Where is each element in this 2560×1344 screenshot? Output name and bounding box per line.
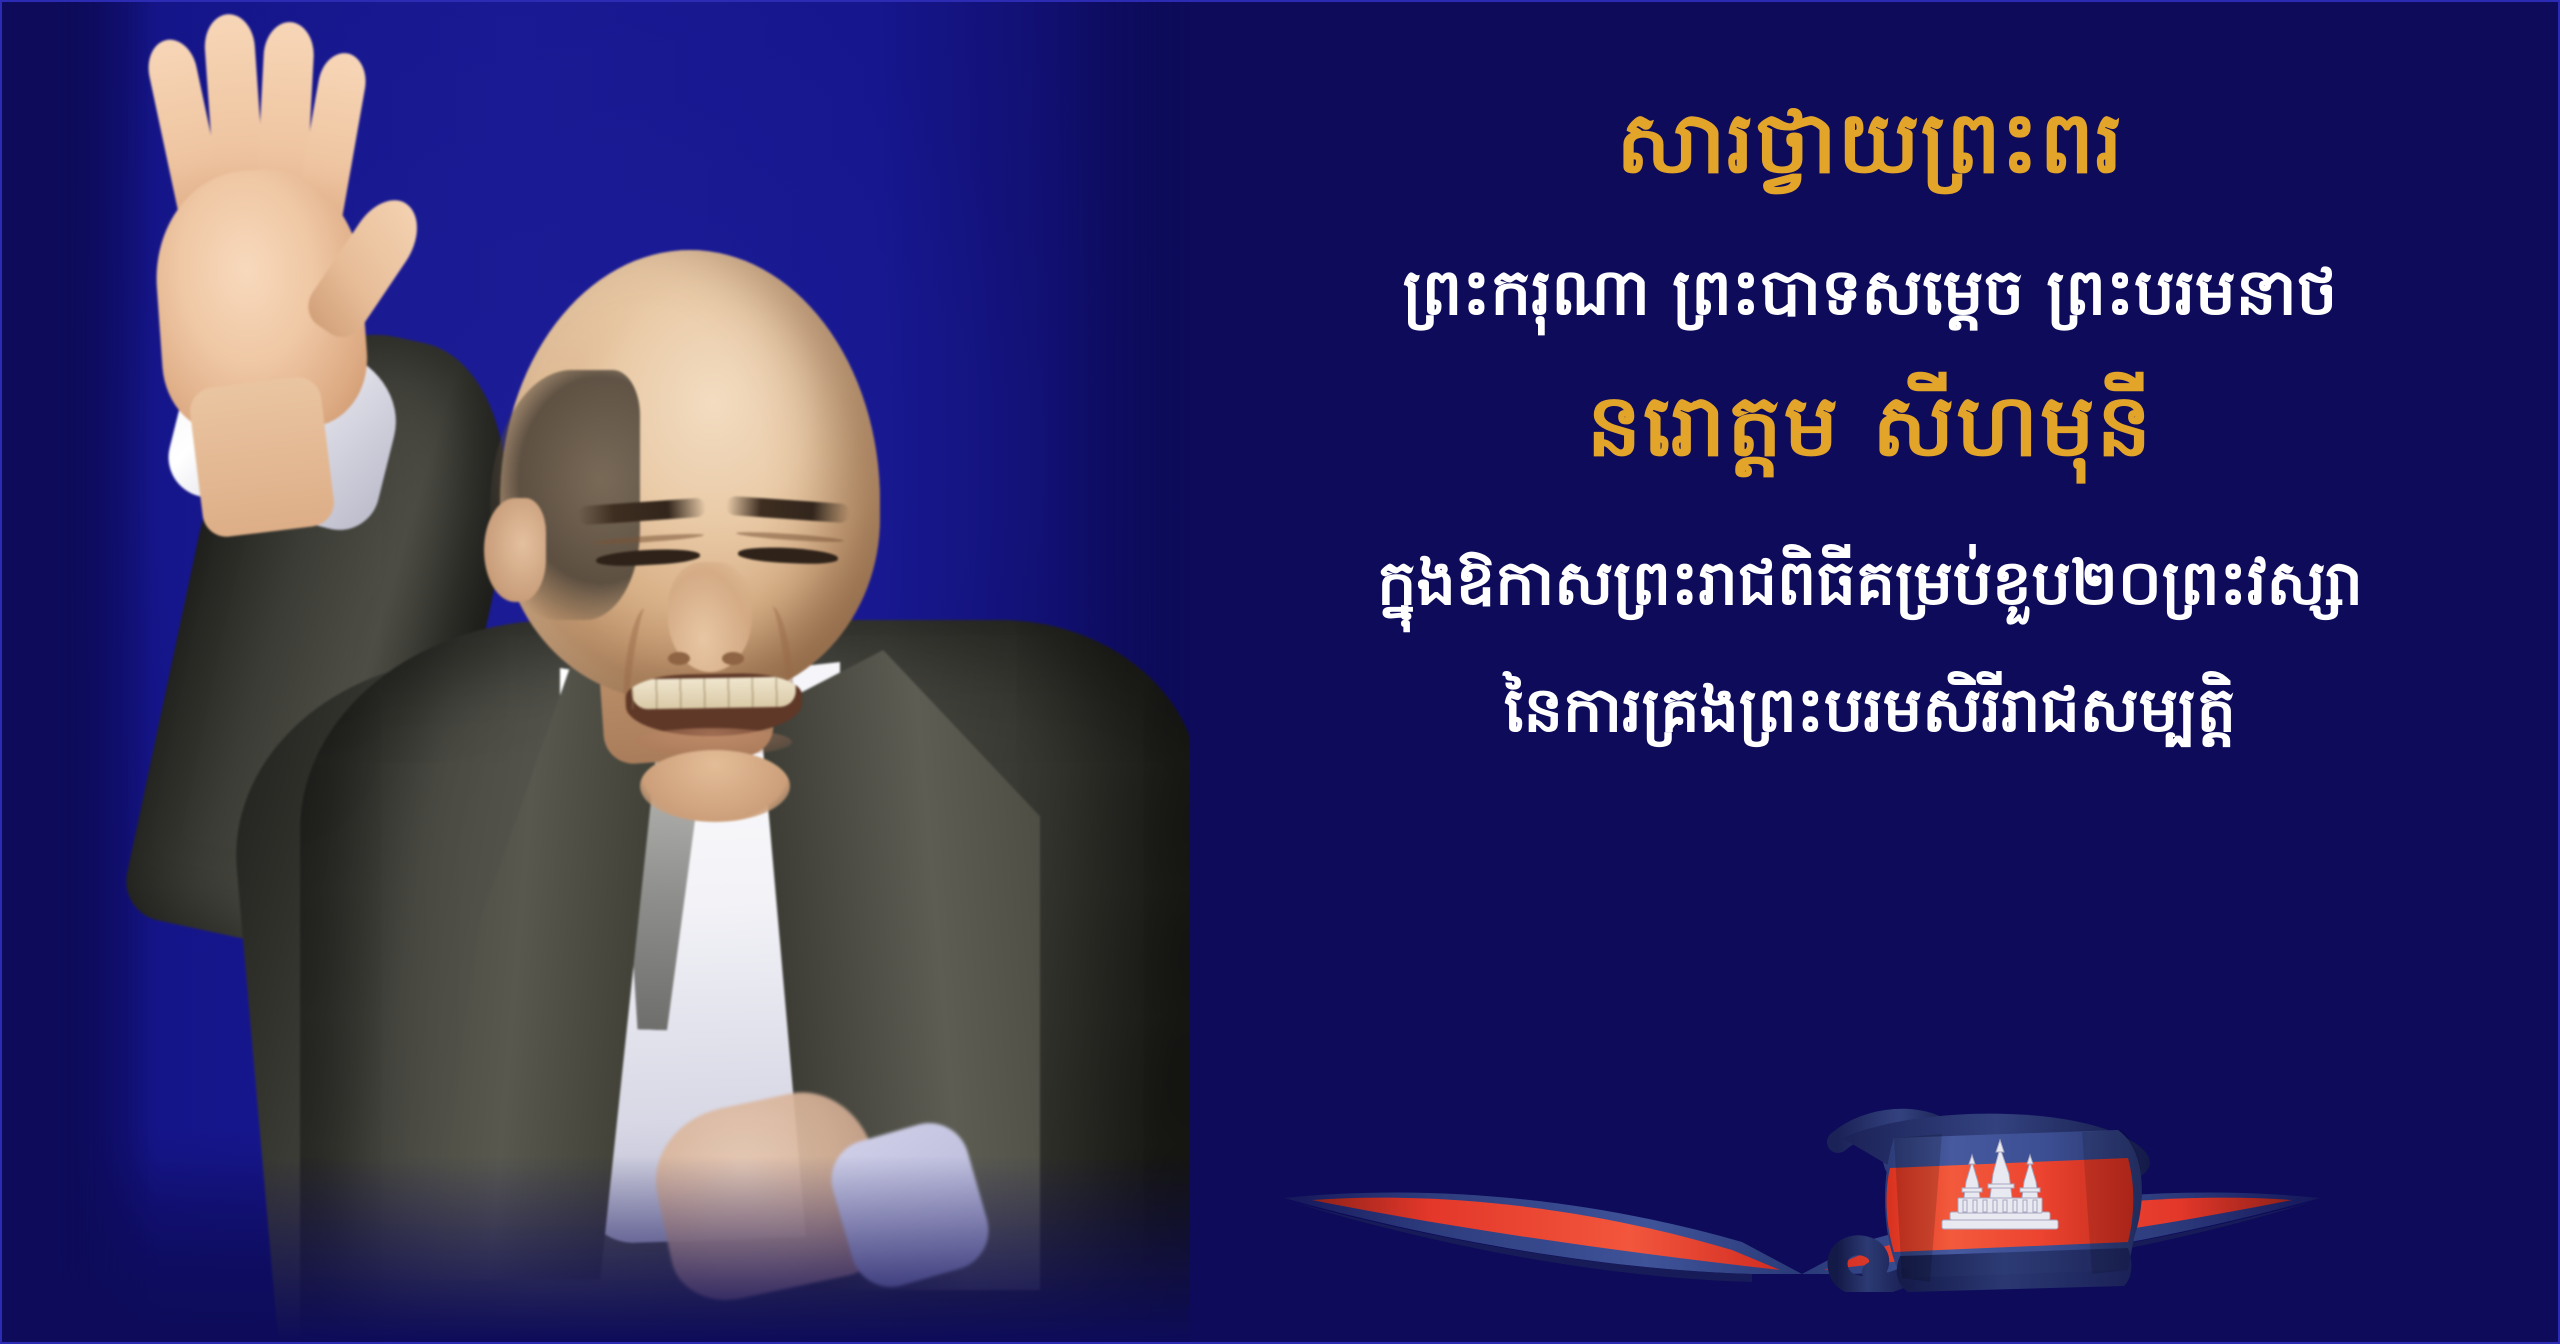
cambodia-flag-ribbon bbox=[1282, 1092, 2322, 1292]
flag-left-wing bbox=[1284, 1192, 1802, 1282]
occasion-line-2: នៃការគ្រងព្រះបរមសិរីរាជសម្បត្តិ bbox=[1180, 677, 2560, 742]
portrait-photo bbox=[0, 0, 1190, 1344]
teeth bbox=[632, 677, 796, 710]
royal-greeting-poster: សារថ្វាយព្រះពរ ព្រះករុណា ព្រះបាទសម្តេច ព… bbox=[0, 0, 2560, 1344]
royal-name-line: នរោត្តម សីហមុនី bbox=[1180, 381, 2560, 471]
head bbox=[500, 250, 880, 720]
chin bbox=[640, 750, 790, 822]
nostril-left bbox=[668, 652, 690, 665]
occasion-line-1: ក្នុងឱកាសព្រះរាជពិធីគម្រប់ខួប២០ព្រះវស្សា bbox=[1180, 550, 2560, 615]
wrist bbox=[187, 375, 336, 540]
page-title: សារថ្វាយព្រះពរ bbox=[1180, 98, 2560, 188]
portrait-figure bbox=[0, 0, 1190, 1344]
ear bbox=[484, 498, 546, 602]
royal-title-line: ព្រះករុណា ព្រះបាទសម្តេច ព្រះបរមនាថ bbox=[1180, 260, 2560, 327]
nostril-right bbox=[722, 652, 744, 665]
waving-hand bbox=[118, 10, 418, 430]
